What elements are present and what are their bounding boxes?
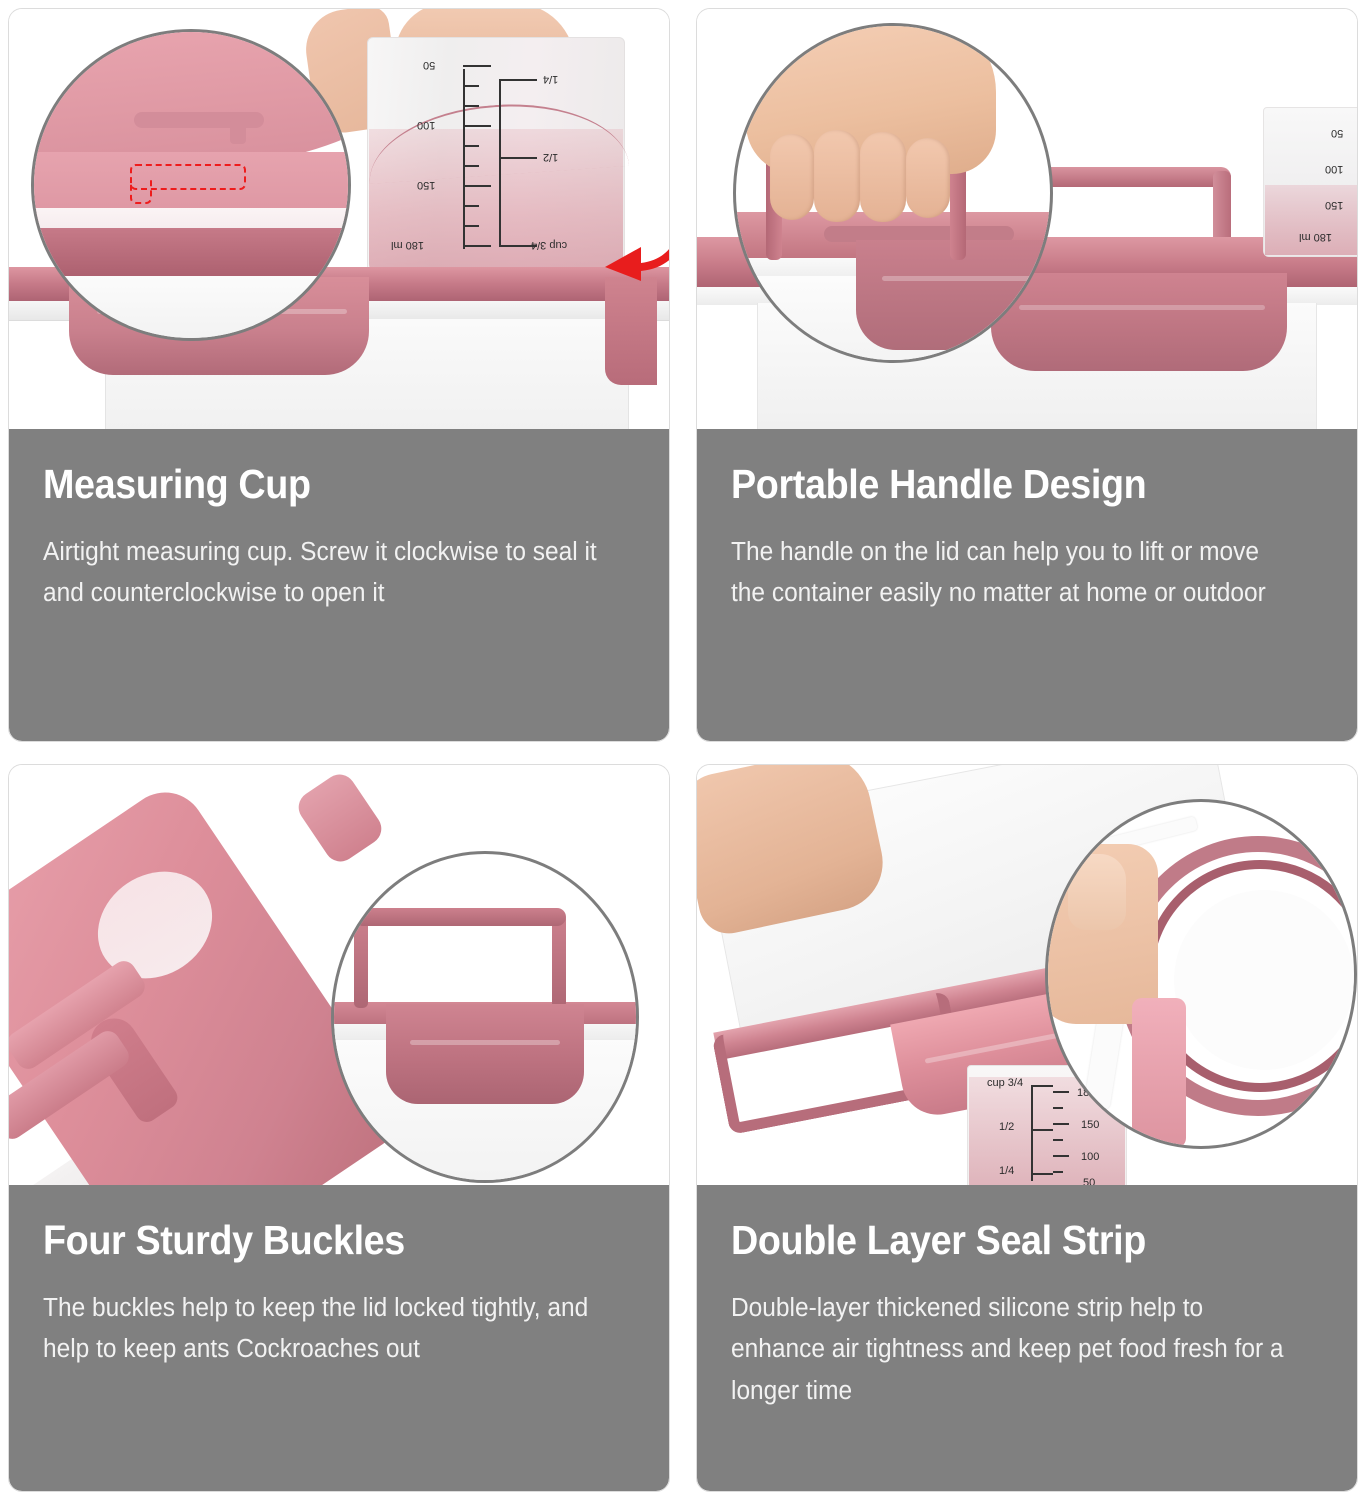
feature-grid: 50 100 150 180 ml 1/4 1/2 cup 3/4 <box>0 0 1362 1500</box>
scale-label-ml-150: 150 <box>1325 199 1343 211</box>
panel-body: Airtight measuring cup. Screw it clockwi… <box>43 532 611 615</box>
lens-buckle <box>386 1004 584 1104</box>
lens-thumbnail-icon <box>1068 854 1126 930</box>
scale-label-cup-threequarter: cup 3/4 <box>531 239 567 251</box>
caption-portable-handle: Portable Handle Design The handle on the… <box>697 429 1357 741</box>
scale-label-ml-50: 50 <box>1083 1177 1095 1185</box>
scale-label-cup-half: 1/2 <box>543 151 558 163</box>
measuring-cup-scale: 50 100 150 180 ml <box>1265 109 1357 255</box>
grid-cell-2: 50 100 150 180 ml <box>680 0 1362 750</box>
lid-buckle-right <box>605 277 657 385</box>
lens-cup-dome <box>31 29 351 172</box>
rotation-arrow-icon <box>579 181 669 281</box>
panel-title: Portable Handle Design <box>731 463 1276 506</box>
highlight-dashed-tail <box>130 180 152 204</box>
magnifier-lens-seal-tab <box>31 29 351 341</box>
feature-panel-portable-handle: 50 100 150 180 ml <box>696 8 1358 742</box>
caption-measuring-cup: Measuring Cup Airtight measuring cup. Sc… <box>9 429 669 741</box>
product-photo-four-buckles <box>9 765 669 1185</box>
grid-cell-1: 50 100 150 180 ml 1/4 1/2 cup 3/4 <box>0 0 680 750</box>
lens-handle-top-bar <box>354 908 566 926</box>
lens-finger-4 <box>906 138 950 218</box>
lens-handle-right-leg <box>552 914 566 1008</box>
lens-buckle-groove <box>882 276 1032 281</box>
panel-title: Measuring Cup <box>43 463 588 506</box>
lens-finger-2 <box>814 130 860 222</box>
grid-cell-4: cup 3/4 1/2 1/4 180 ml 150 100 50 <box>680 750 1362 1500</box>
product-photo-portable-handle: 50 100 150 180 ml <box>697 9 1357 429</box>
lens-jar-body <box>31 276 351 341</box>
panel-title: Double Layer Seal Strip <box>731 1219 1276 1262</box>
scale-label-ml-180: 180 ml <box>391 239 424 251</box>
feature-panel-four-buckles: Four Sturdy Buckles The buckles help to … <box>8 764 670 1492</box>
panel-title: Four Sturdy Buckles <box>43 1219 588 1262</box>
scale-label-cup-half: 1/2 <box>999 1121 1014 1133</box>
lid-buckle-groove <box>1019 305 1265 310</box>
scale-label-ml-100: 100 <box>1325 163 1343 175</box>
lens-finger-3 <box>860 132 906 222</box>
scale-label-ml-50: 50 <box>1331 127 1343 139</box>
lens-lid-center <box>1174 890 1354 1070</box>
lens-finger-1 <box>770 134 814 220</box>
scale-label-cup-quarter: 1/4 <box>543 73 558 85</box>
caption-seal-strip: Double Layer Seal Strip Double-layer thi… <box>697 1185 1357 1491</box>
scale-label-cup-threequarter: cup 3/4 <box>987 1077 1023 1089</box>
magnifier-lens-seal-strip <box>1045 799 1357 1149</box>
grid-cell-3: Four Sturdy Buckles The buckles help to … <box>0 750 680 1500</box>
lens-buckle-groove <box>410 1040 560 1045</box>
lid-buckle-tab-top <box>292 768 387 867</box>
magnifier-lens-buckle <box>331 851 639 1183</box>
feature-panel-measuring-cup: 50 100 150 180 ml 1/4 1/2 cup 3/4 <box>8 8 670 742</box>
scale-label-ml-100: 100 <box>417 119 435 131</box>
scale-label-ml-100: 100 <box>1081 1151 1099 1163</box>
product-photo-seal-strip: cup 3/4 1/2 1/4 180 ml 150 100 50 <box>697 765 1357 1185</box>
magnifier-lens-hand-grip <box>733 23 1053 363</box>
feature-panel-seal-strip: cup 3/4 1/2 1/4 180 ml 150 100 50 <box>696 764 1358 1492</box>
scale-label-ml-50: 50 <box>423 59 435 71</box>
scale-label-ml-150: 150 <box>1081 1119 1099 1131</box>
scale-label-ml-180: 180 ml <box>1299 231 1332 243</box>
product-photo-measuring-cup: 50 100 150 180 ml 1/4 1/2 cup 3/4 <box>9 9 669 429</box>
lens-cup-ridge-stub <box>230 118 246 144</box>
panel-body: The buckles help to keep the lid locked … <box>43 1288 611 1371</box>
lens-lid-wall <box>1132 998 1186 1148</box>
caption-four-buckles: Four Sturdy Buckles The buckles help to … <box>9 1185 669 1491</box>
scale-label-cup-quarter: 1/4 <box>999 1165 1014 1177</box>
lens-rose-rim <box>31 228 351 280</box>
panel-body: Double-layer thickened silicone strip he… <box>731 1288 1299 1412</box>
panel-body: The handle on the lid can help you to li… <box>731 532 1299 615</box>
lens-handle-left-leg <box>354 914 368 1008</box>
scale-label-ml-150: 150 <box>417 179 435 191</box>
